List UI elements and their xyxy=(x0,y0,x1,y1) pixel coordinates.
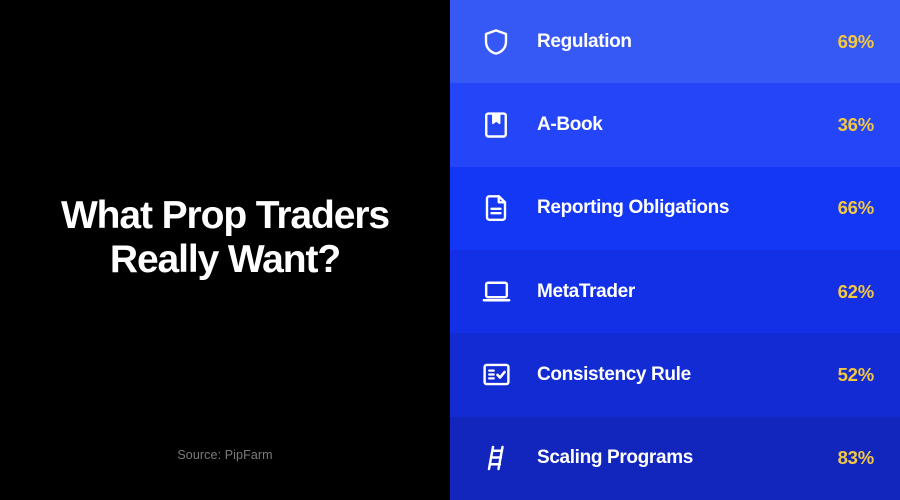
source-credit: Source: PipFarm xyxy=(0,448,450,462)
document-icon xyxy=(479,191,513,225)
laptop-icon xyxy=(479,275,513,309)
list-item[interactable]: Scaling Programs 83% xyxy=(450,417,900,500)
headline-line-2: Really Want? xyxy=(25,238,425,282)
list-item[interactable]: Reporting Obligations 66% xyxy=(450,167,900,250)
checklist-icon xyxy=(479,358,513,392)
ladder-icon xyxy=(479,441,513,475)
infographic-canvas: What Prop Traders Really Want? Source: P… xyxy=(0,0,900,500)
list-item-label: A-Book xyxy=(537,114,838,136)
list-item-label: Reporting Obligations xyxy=(537,197,838,219)
list-item-label: MetaTrader xyxy=(537,281,838,303)
list-item[interactable]: A-Book 36% xyxy=(450,83,900,166)
list-item-label: Consistency Rule xyxy=(537,364,838,386)
list-item-percent: 36% xyxy=(838,114,874,136)
headline-line-1: What Prop Traders xyxy=(61,194,389,237)
list-item-label: Scaling Programs xyxy=(537,447,838,469)
shield-icon xyxy=(479,25,513,59)
title-panel: What Prop Traders Really Want? Source: P… xyxy=(0,0,450,500)
list-item-percent: 69% xyxy=(838,31,874,53)
book-icon xyxy=(479,108,513,142)
list-item-percent: 52% xyxy=(838,364,874,386)
list-item-percent: 83% xyxy=(838,447,874,469)
list-item[interactable]: Consistency Rule 52% xyxy=(450,333,900,416)
list-item-percent: 66% xyxy=(838,197,874,219)
list-item-label: Regulation xyxy=(537,31,838,53)
list-item[interactable]: MetaTrader 62% xyxy=(450,250,900,333)
stats-list: Regulation 69% A-Book 36% Reporting xyxy=(450,0,900,500)
page-title: What Prop Traders Really Want? xyxy=(25,194,425,281)
list-item[interactable]: Regulation 69% xyxy=(450,0,900,83)
list-item-percent: 62% xyxy=(838,281,874,303)
